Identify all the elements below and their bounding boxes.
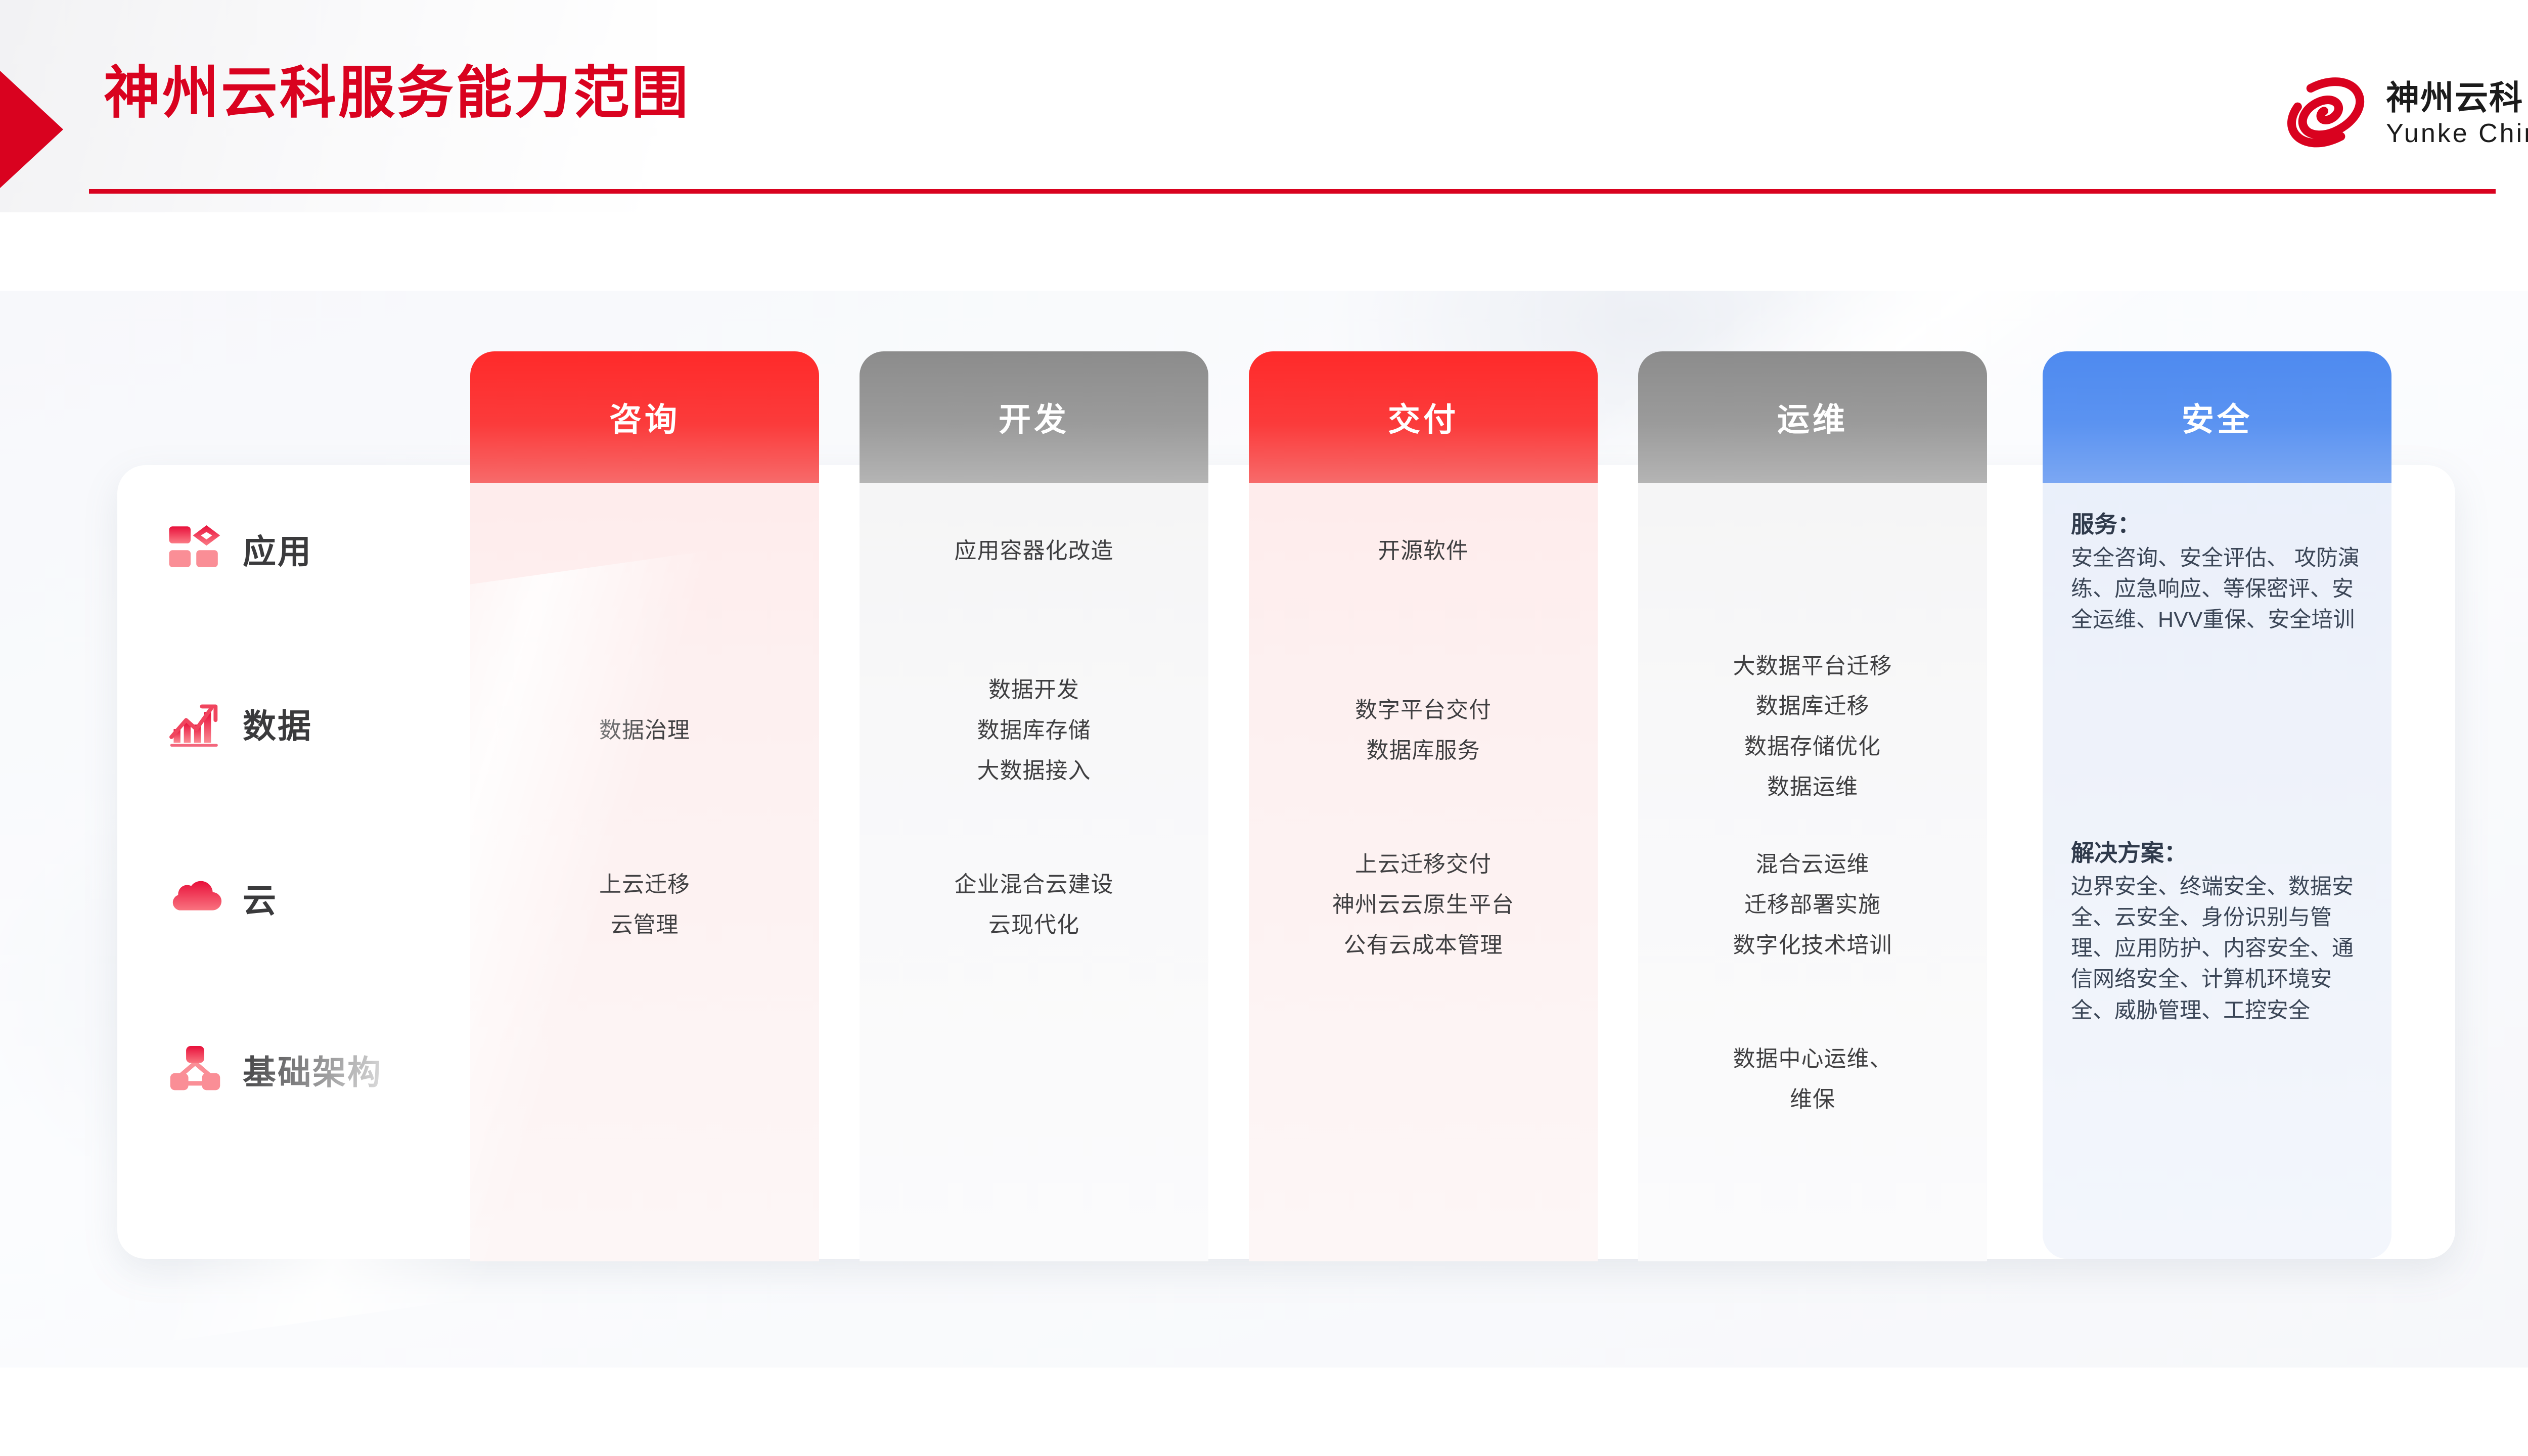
matrix-board: 咨询 开发 交付 运维 安全 应用 bbox=[0, 291, 2528, 1368]
cell-infrastructure-development[interactable] bbox=[860, 1029, 1208, 1130]
column-header-delivery[interactable]: 交付 bbox=[1249, 351, 1598, 483]
column-header-consulting[interactable]: 咨询 bbox=[470, 351, 819, 483]
cell-line: 神州云云原生平台 bbox=[1332, 891, 1514, 919]
cell-line: 上云迁移交付 bbox=[1355, 851, 1492, 878]
logo-name-en: Yunke China bbox=[2386, 120, 2528, 147]
row-label-text: 应用 bbox=[243, 525, 312, 573]
cell-line: 数据中心运维、 bbox=[1733, 1045, 1892, 1073]
security-service-body: 安全咨询、安全评估、 攻防演练、应急响应、等保密评、安全运维、HVV重保、安全培… bbox=[2071, 546, 2360, 632]
column-header-security[interactable]: 安全 bbox=[2043, 351, 2391, 483]
cell-line: 云管理 bbox=[611, 912, 679, 939]
cell-cloud-development[interactable]: 企业混合云建设云现代化 bbox=[860, 842, 1208, 968]
row-label-infrastructure: 基础架构 bbox=[167, 1069, 450, 1070]
column-header-operations[interactable]: 运维 bbox=[1638, 351, 1987, 483]
cell-cloud-operations[interactable]: 混合云运维迁移部署实施数字化技术培训 bbox=[1638, 842, 1987, 968]
cell-application-operations[interactable] bbox=[1638, 508, 1987, 594]
cell-line: 云现代化 bbox=[988, 912, 1079, 939]
bar-chart-growth-icon bbox=[167, 695, 223, 752]
row-label-data: 数据 bbox=[167, 723, 450, 723]
page-title: 神州云科服务能力范围 bbox=[104, 62, 690, 124]
cell-data-development[interactable]: 数据开发数据库存储大数据接入 bbox=[860, 665, 1208, 796]
cell-line: 维保 bbox=[1790, 1086, 1835, 1113]
cell-line: 数字化技术培训 bbox=[1733, 932, 1892, 959]
cloud-icon bbox=[167, 870, 223, 926]
security-service-title: 服务： bbox=[2071, 508, 2364, 541]
capability-matrix-canvas: 咨询 开发 交付 运维 安全 应用 bbox=[0, 291, 2528, 1368]
cell-line: 大数据平台迁移 bbox=[1733, 653, 1892, 680]
row-label-text: 云 bbox=[243, 874, 278, 922]
cell-application-development[interactable]: 应用容器化改造 bbox=[860, 508, 1208, 594]
cell-infrastructure-operations[interactable]: 数据中心运维、维保 bbox=[1638, 1029, 1987, 1130]
cell-cloud-consulting[interactable]: 上云迁移云管理 bbox=[470, 842, 819, 968]
logo-wordmark: 神州云科 Yunke China bbox=[2386, 81, 2528, 147]
cell-line: 数据库迁移 bbox=[1756, 693, 1870, 720]
cell-line: 迁移部署实施 bbox=[1744, 891, 1881, 919]
row-label-application: 应用 bbox=[167, 549, 450, 549]
cell-line: 公有云成本管理 bbox=[1344, 932, 1503, 959]
cell-line: 混合云运维 bbox=[1756, 851, 1870, 878]
page-header: 神州云科服务能力范围 神州云科 Yunke China bbox=[0, 0, 2528, 212]
cell-cloud-delivery[interactable]: 上云迁移交付神州云云原生平台公有云成本管理 bbox=[1249, 842, 1598, 968]
cell-line: 数字平台交付 bbox=[1355, 697, 1492, 724]
logo-name-cn: 神州云科 bbox=[2386, 81, 2528, 114]
cell-line: 数据运维 bbox=[1767, 773, 1858, 801]
cell-line: 数据治理 bbox=[599, 717, 690, 744]
cell-data-consulting[interactable]: 数据治理 bbox=[470, 665, 819, 796]
cell-line: 数据存储优化 bbox=[1744, 733, 1881, 760]
row-label-text: 数据 bbox=[243, 699, 312, 748]
row-label-cloud: 云 bbox=[167, 897, 450, 898]
cell-line: 数据库服务 bbox=[1367, 737, 1480, 764]
cell-line: 企业混合云建设 bbox=[955, 871, 1114, 898]
title-underline bbox=[89, 189, 2496, 194]
cell-application-consulting[interactable] bbox=[470, 508, 819, 594]
network-nodes-icon bbox=[167, 1041, 223, 1098]
column-header-development[interactable]: 开发 bbox=[860, 351, 1208, 483]
app-blocks-icon bbox=[167, 521, 223, 577]
cell-line: 应用容器化改造 bbox=[955, 537, 1114, 565]
cell-application-delivery[interactable]: 开源软件 bbox=[1249, 508, 1598, 594]
row-label-text: 基础架构 bbox=[243, 1045, 382, 1094]
security-solution-title: 解决方案： bbox=[2071, 837, 2364, 870]
cell-line: 数据开发 bbox=[988, 676, 1079, 704]
column-strip-consulting bbox=[470, 351, 819, 1261]
security-service-block[interactable]: 服务： 安全咨询、安全评估、 攻防演练、应急响应、等保密评、安全运维、HVV重保… bbox=[2071, 508, 2364, 635]
cell-line: 数据库存储 bbox=[977, 717, 1091, 744]
security-solution-block[interactable]: 解决方案： 边界安全、终端安全、数据安全、云安全、身份识别与管理、应用防护、内容… bbox=[2071, 837, 2364, 1026]
cell-infrastructure-consulting[interactable] bbox=[470, 1029, 819, 1130]
cell-line: 开源软件 bbox=[1378, 537, 1469, 565]
column-strip-security bbox=[2043, 351, 2391, 1259]
cell-line: 大数据接入 bbox=[977, 757, 1091, 785]
company-logo: 神州云科 Yunke China bbox=[2274, 76, 2528, 152]
cell-data-delivery[interactable]: 数字平台交付数据库服务 bbox=[1249, 665, 1598, 796]
red-arrow-marker-icon bbox=[0, 71, 63, 188]
cell-data-operations[interactable]: 大数据平台迁移数据库迁移数据存储优化数据运维 bbox=[1638, 651, 1987, 802]
security-solution-body: 边界安全、终端安全、数据安全、云安全、身份识别与管理、应用防护、内容安全、通信网… bbox=[2071, 875, 2354, 1022]
cell-infrastructure-delivery[interactable] bbox=[1249, 1029, 1598, 1130]
cell-line: 上云迁移 bbox=[599, 871, 690, 898]
swirl-at-logo-mark-icon bbox=[2274, 76, 2375, 152]
